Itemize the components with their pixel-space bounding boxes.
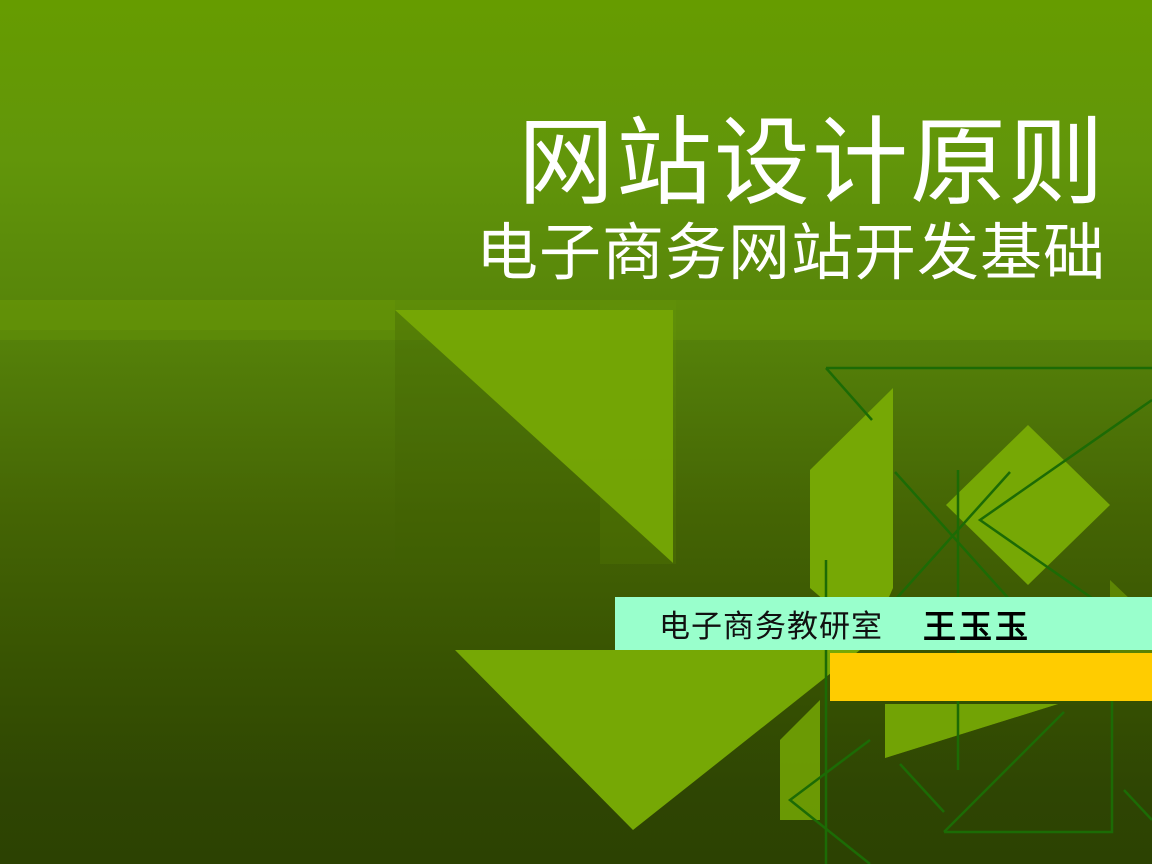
shape-vertical-band [600,300,676,564]
shape-outline-diag-bottom [944,712,1064,832]
shape-outline-x-cross-a [895,472,1010,600]
shape-outline-chevron-bottom [790,740,870,864]
shape-top-light-band [0,300,1152,340]
author-name: 王玉玉 [923,600,1031,648]
shape-outline-right-edge-diag [1124,790,1152,820]
shape-outline-diag-bottom-2 [900,764,944,812]
page-title: 网站设计原则 [0,112,1106,216]
shape-arrow-bottom-left [780,700,820,820]
shape-large-triangle-center [395,310,673,563]
shape-outline-box-bottom-right [944,700,1112,832]
page-subtitle: 电子商务网站开发基础 [0,220,1106,288]
shape-triangle-bottom-right-2 [885,704,1058,758]
title-block: 网站设计原则 电子商务网站开发基础 [0,112,1106,288]
shape-triangle-bottom-right [885,704,1058,758]
shape-triangle-bottom-center [455,650,860,830]
shape-outline-x-cross-b [895,472,1010,600]
shape-outline-triangle-top-right-leg [826,368,872,420]
accent-bar [830,653,1152,701]
shape-dark-triangle-center [395,310,673,563]
author-department: 电子商务教研室 [659,601,883,646]
shape-diamond-right [946,425,1110,585]
author-band: 电子商务教研室 王玉玉 [615,597,1152,650]
presentation-slide: 网站设计原则 电子商务网站开发基础 电子商务教研室 王玉玉 [0,0,1152,864]
shape-left-slab [0,300,395,330]
